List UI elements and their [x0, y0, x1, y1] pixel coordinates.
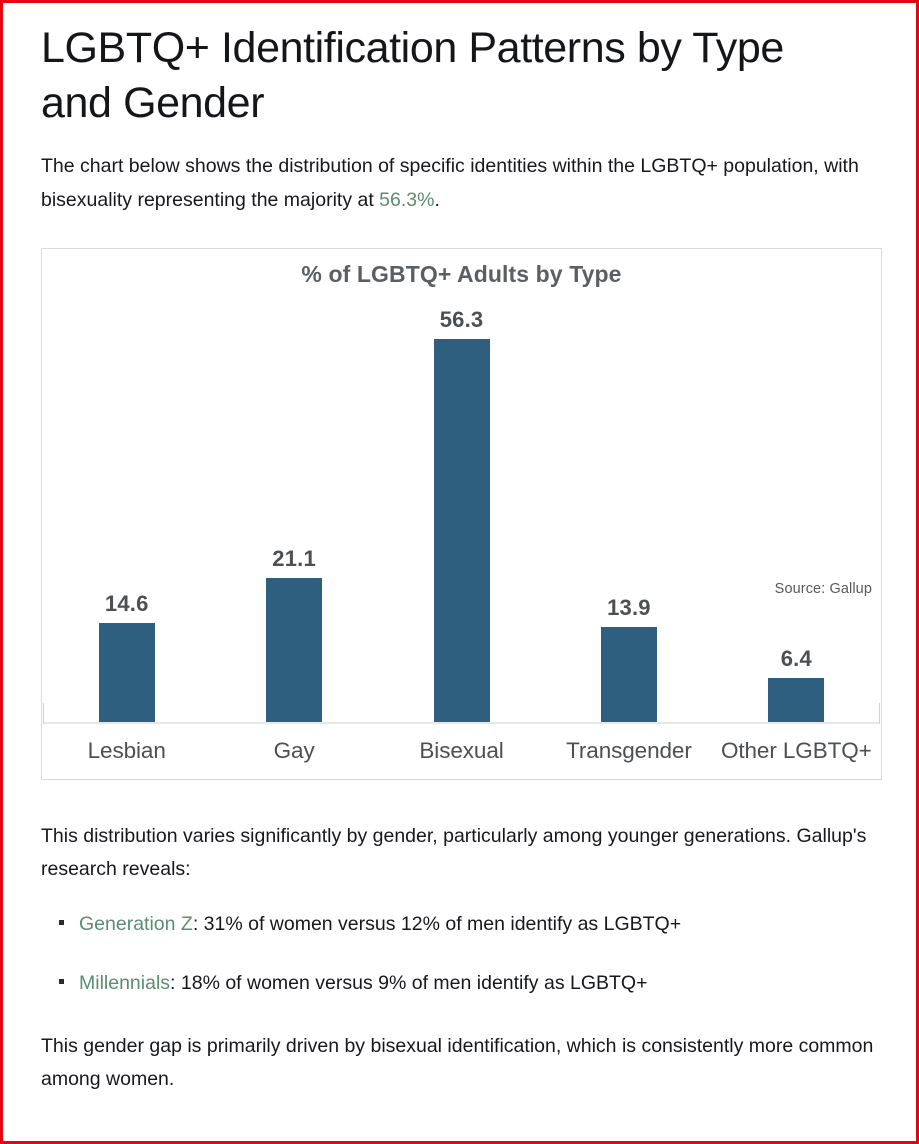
bar-value-label: 6.4 [781, 646, 812, 672]
bar-rect[interactable] [601, 627, 657, 721]
bar-rect[interactable] [434, 339, 490, 721]
page-title: LGBTQ+ Identification Patterns by Type a… [41, 21, 831, 130]
chart-plot-area: 14.6 21.1 56.3 13.9 [43, 301, 880, 778]
bar-value-label: 14.6 [105, 591, 149, 617]
source-annotation: Source: Gallup [775, 581, 872, 597]
x-tick-label-lesbian: Lesbian [43, 724, 210, 779]
list-item: Generation Z: 31% of women versus 12% of… [79, 909, 886, 940]
chart-title: % of LGBTQ+ Adults by Type [42, 261, 881, 288]
x-tick-label-transgender: Transgender [545, 724, 712, 779]
bar-value-label: 21.1 [272, 546, 316, 572]
bar-series: 14.6 21.1 56.3 13.9 [43, 301, 880, 722]
x-axis-category-labels: Lesbian Gay Bisexual Transgender Other L… [43, 724, 880, 779]
bullet-square-icon [59, 920, 64, 925]
insight-list: Generation Z: 31% of women versus 12% of… [41, 909, 886, 999]
intro-text-before: The chart below shows the distribution o… [41, 155, 859, 211]
x-tick-label-bisexual: Bisexual [378, 724, 545, 779]
list-item: Millennials: 18% of women versus 9% of m… [79, 968, 886, 999]
bullet-square-icon [59, 979, 64, 984]
closing-paragraph: This gender gap is primarily driven by b… [41, 1030, 881, 1097]
article-content: LGBTQ+ Identification Patterns by Type a… [41, 21, 886, 1097]
x-tick-label-other-lgbtq: Other LGBTQ+ [713, 724, 880, 779]
insight-text: : 31% of women versus 12% of men identif… [193, 913, 681, 935]
bar-rect[interactable] [266, 578, 322, 721]
x-axis-tick-start [43, 703, 44, 724]
x-tick-label-gay: Gay [210, 724, 377, 779]
bar-value-label: 56.3 [440, 307, 484, 333]
bar-group-bisexual[interactable]: 56.3 [378, 301, 545, 722]
bar-rect[interactable] [99, 623, 155, 722]
bar-group-lesbian[interactable]: 14.6 [43, 301, 210, 722]
bar-value-label: 13.9 [607, 595, 651, 621]
insight-text: : 18% of women versus 9% of men identify… [170, 972, 647, 994]
intro-paragraph: The chart below shows the distribution o… [41, 150, 881, 217]
intro-accent-value: 56.3% [379, 189, 434, 211]
chart-card: % of LGBTQ+ Adults by Type 14.6 21.1 56.… [41, 248, 882, 780]
bar-group-transgender[interactable]: 13.9 [545, 301, 712, 722]
insight-accent-label: Generation Z [79, 913, 193, 935]
bar-group-other-lgbtq[interactable]: 6.4 [713, 301, 880, 722]
post-chart-paragraph: This distribution varies significantly b… [41, 820, 881, 887]
insight-accent-label: Millennials [79, 972, 170, 994]
page-frame: LGBTQ+ Identification Patterns by Type a… [0, 0, 919, 1144]
bar-rect[interactable] [768, 678, 824, 721]
intro-text-after: . [434, 189, 439, 211]
x-axis-tick-end [879, 703, 880, 724]
bar-group-gay[interactable]: 21.1 [210, 301, 377, 722]
